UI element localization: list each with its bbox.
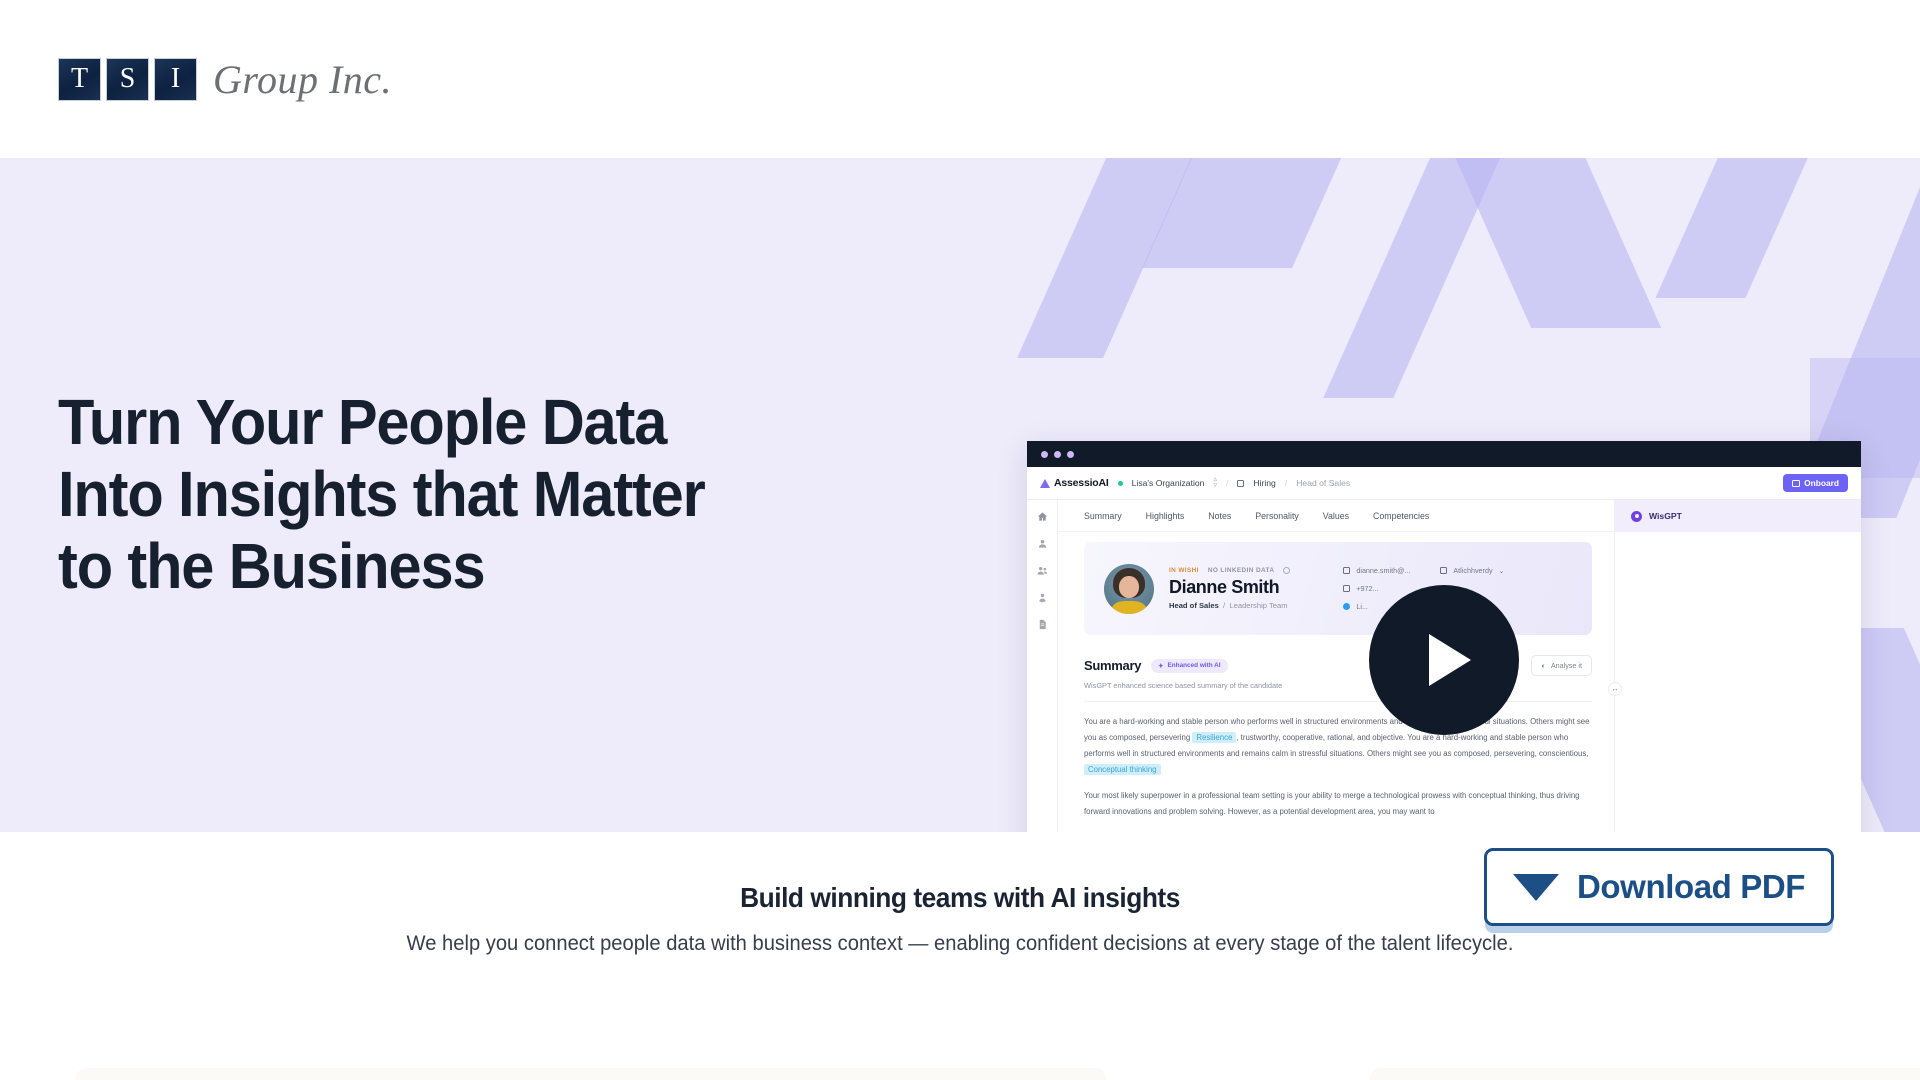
breadcrumb-separator: / bbox=[1285, 478, 1287, 488]
logo-letter-i: I bbox=[154, 58, 197, 101]
person-badge-icon[interactable] bbox=[1037, 592, 1048, 603]
logo-letter-t: T bbox=[58, 58, 101, 101]
onboard-button[interactable]: Onboard bbox=[1783, 474, 1848, 492]
highlight-conceptual-thinking[interactable]: Conceptual thinking bbox=[1084, 764, 1161, 775]
wisgpt-panel: ↔ WisGPT ➤ Ask WisGPT by typing or by ch… bbox=[1614, 500, 1861, 832]
download-pdf-label: Download PDF bbox=[1577, 868, 1805, 906]
hero-headline-line-2: Into Insights that Matter bbox=[58, 459, 915, 531]
analyse-button-label: Analyse it bbox=[1551, 661, 1582, 670]
summary-paragraph-1: You are a hard-working and stable person… bbox=[1084, 714, 1592, 778]
org-status-dot-icon bbox=[1118, 481, 1123, 486]
feature-cards-peek bbox=[0, 1062, 1920, 1080]
people-icon[interactable] bbox=[1037, 565, 1048, 576]
hero-text-block: Turn Your People Data Into Insights that… bbox=[0, 387, 980, 602]
triangle-down-icon bbox=[1513, 874, 1559, 901]
breadcrumb-item-role: Head of Sales bbox=[1296, 478, 1350, 488]
candidate-role: Head of Sales bbox=[1169, 601, 1219, 610]
wisgpt-title: WisGPT bbox=[1649, 511, 1682, 521]
logo-letter-s: S bbox=[106, 58, 149, 101]
onboard-icon bbox=[1792, 480, 1800, 487]
contact-phone: +972... bbox=[1356, 584, 1378, 593]
feature-card-top bbox=[76, 1068, 1106, 1080]
candidate-name: Dianne Smith bbox=[1169, 577, 1290, 598]
assessio-logo-icon bbox=[1040, 479, 1050, 488]
gear-icon bbox=[1631, 511, 1642, 522]
link-icon bbox=[1343, 603, 1350, 610]
breadcrumb-item-hiring[interactable]: Hiring bbox=[1253, 478, 1275, 488]
hiring-icon bbox=[1237, 480, 1244, 487]
app-main-content: Summary Highlights Notes Personality Val… bbox=[1058, 500, 1614, 832]
ai-enhanced-badge: ✦ Enhanced with AI bbox=[1151, 659, 1227, 673]
section-subtitle: We help you connect people data with bus… bbox=[350, 928, 1569, 961]
contact-email-row[interactable]: dianne.smith@... bbox=[1343, 566, 1410, 575]
phone-icon bbox=[1343, 585, 1350, 592]
hero-headline-line-1: Turn Your People Data bbox=[58, 387, 915, 459]
product-screenshot-video[interactable]: AssessioAI Lisa's Organization ▵▿ / Hiri… bbox=[1027, 441, 1861, 832]
play-button[interactable] bbox=[1369, 585, 1519, 735]
tab-highlights[interactable]: Highlights bbox=[1146, 511, 1185, 521]
sparkle-icon: ✦ bbox=[1158, 662, 1163, 670]
app-tab-bar: Summary Highlights Notes Personality Val… bbox=[1058, 500, 1614, 532]
breadcrumb-separator: / bbox=[1226, 478, 1228, 488]
window-dot-minimize bbox=[1054, 451, 1061, 458]
download-pdf-button[interactable]: Download PDF bbox=[1484, 848, 1834, 926]
app-window-titlebar bbox=[1027, 441, 1861, 467]
avatar-body bbox=[1112, 601, 1146, 614]
status-badge: IN WISHI bbox=[1169, 567, 1199, 574]
hero-headline: Turn Your People Data Into Insights that… bbox=[58, 387, 915, 602]
window-dot-maximize bbox=[1067, 451, 1074, 458]
document-icon[interactable] bbox=[1037, 619, 1048, 630]
site-header: T S I Group Inc. bbox=[0, 0, 1920, 158]
summary-divider bbox=[1084, 701, 1592, 702]
chevron-down-icon[interactable]: ⌄ bbox=[1499, 566, 1505, 575]
hero-section: Turn Your People Data Into Insights that… bbox=[0, 158, 1920, 832]
play-icon bbox=[1429, 634, 1471, 686]
app-brand-name: AssessioAI bbox=[1054, 477, 1109, 489]
avatar bbox=[1104, 564, 1154, 614]
analyse-icon: ◐ bbox=[1541, 661, 1545, 670]
candidate-team: Leadership Team bbox=[1229, 601, 1287, 610]
person-icon[interactable] bbox=[1037, 538, 1048, 549]
tab-summary[interactable]: Summary bbox=[1084, 511, 1122, 521]
contact-source-row[interactable]: Atlichhverdy ⌄ bbox=[1440, 566, 1504, 575]
home-icon[interactable] bbox=[1037, 511, 1048, 522]
highlight-resilience[interactable]: Resilience bbox=[1192, 732, 1236, 743]
org-selector-label[interactable]: Lisa's Organization bbox=[1132, 478, 1205, 488]
linkedin-badge: NO LINKEDIN DATA bbox=[1208, 567, 1275, 574]
summary-title: Summary bbox=[1084, 658, 1141, 673]
wisgpt-panel-header: WisGPT bbox=[1615, 500, 1861, 532]
candidate-badges: IN WISHI NO LINKEDIN DATA bbox=[1169, 567, 1290, 574]
tab-personality[interactable]: Personality bbox=[1255, 511, 1299, 521]
logo-wordmark: Group Inc. bbox=[213, 56, 392, 103]
contact-link: Li... bbox=[1356, 602, 1368, 611]
app-sidebar-rail bbox=[1027, 500, 1058, 832]
contact-phone-row[interactable]: +972... bbox=[1343, 584, 1410, 593]
info-icon[interactable] bbox=[1283, 567, 1290, 574]
candidate-role-line: Head of Sales / Leadership Team bbox=[1169, 601, 1290, 610]
app-brand[interactable]: AssessioAI bbox=[1040, 477, 1109, 489]
feature-card-top bbox=[1370, 1068, 1920, 1080]
tab-notes[interactable]: Notes bbox=[1208, 511, 1231, 521]
tsi-group-logo[interactable]: T S I Group Inc. bbox=[58, 56, 392, 103]
tab-values[interactable]: Values bbox=[1323, 511, 1349, 521]
contact-email: dianne.smith@... bbox=[1356, 566, 1410, 575]
tab-competencies[interactable]: Competencies bbox=[1373, 511, 1429, 521]
window-dot-close bbox=[1041, 451, 1048, 458]
logo-letter-marks: T S I bbox=[58, 58, 197, 101]
contact-source: Atlichhverdy bbox=[1453, 566, 1492, 575]
mail-icon bbox=[1343, 567, 1350, 574]
analyse-it-button[interactable]: ◐ Analyse it bbox=[1531, 655, 1592, 676]
candidate-meta: IN WISHI NO LINKEDIN DATA Dianne Smith H… bbox=[1169, 567, 1290, 610]
chevron-updown-icon[interactable]: ▵▿ bbox=[1213, 477, 1217, 490]
candidate-role-separator: / bbox=[1221, 601, 1227, 610]
onboard-button-label: Onboard bbox=[1804, 478, 1839, 488]
app-topbar: AssessioAI Lisa's Organization ▵▿ / Hiri… bbox=[1027, 467, 1861, 500]
value-prop-section: Build winning teams with AI insights We … bbox=[0, 832, 1920, 1080]
candidate-card: IN WISHI NO LINKEDIN DATA Dianne Smith H… bbox=[1084, 542, 1592, 635]
panel-resize-handle[interactable]: ↔ bbox=[1608, 682, 1622, 696]
summary-paragraph-2: Your most likely superpower in a profess… bbox=[1084, 788, 1592, 820]
hero-headline-line-3: to the Business bbox=[58, 531, 915, 603]
avatar-face bbox=[1119, 576, 1139, 598]
ai-badge-label: Enhanced with AI bbox=[1168, 662, 1221, 669]
source-icon bbox=[1440, 567, 1447, 574]
